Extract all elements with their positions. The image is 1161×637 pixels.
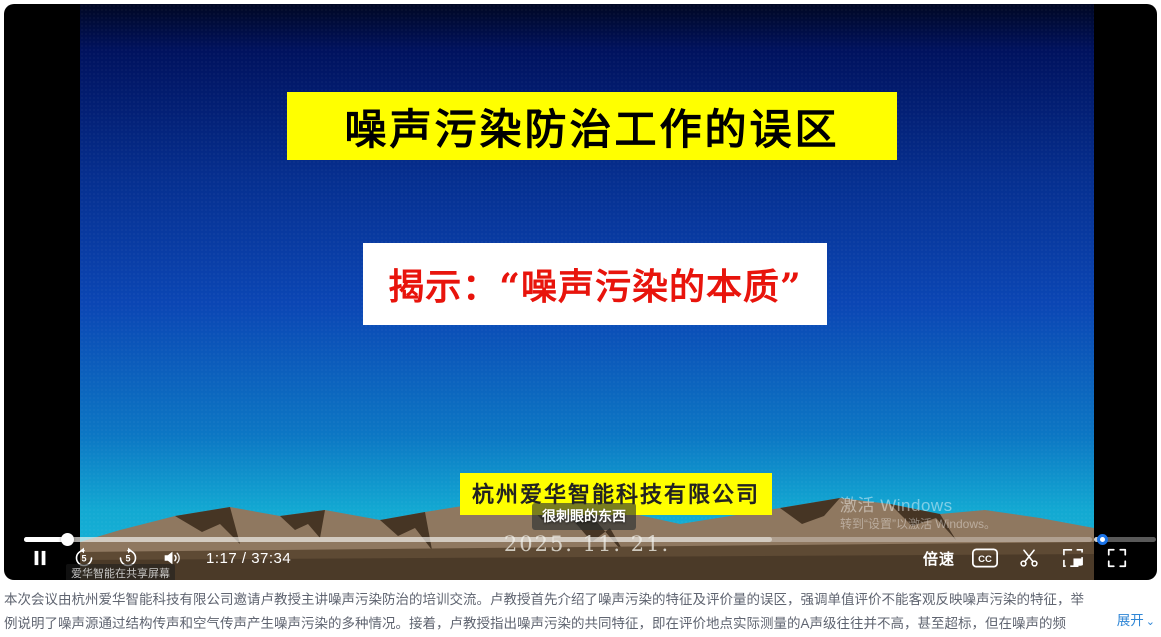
clip-button[interactable]: [1007, 536, 1051, 580]
video-description: 本次会议由杭州爱华智能科技有限公司邀请卢教授主讲噪声污染防治的培训交流。卢教授首…: [0, 588, 1161, 636]
play-pause-button[interactable]: [18, 536, 62, 580]
fullscreen-button[interactable]: [1095, 536, 1139, 580]
picture-in-picture-button[interactable]: [1051, 536, 1095, 580]
expand-description-label: 展开: [1117, 613, 1144, 628]
slide-subtitle: 揭示：“噪声污染的本质”: [388, 258, 801, 310]
svg-text:CC: CC: [978, 554, 992, 565]
video-description-text: 本次会议由杭州爱华智能科技有限公司邀请卢教授主讲噪声污染防治的培训交流。卢教授首…: [4, 588, 1155, 636]
rewind-5-button[interactable]: 5: [62, 536, 106, 580]
player-controls-right: 倍速 CC: [915, 536, 1157, 580]
playback-speed-label: 倍速: [923, 548, 955, 569]
player-controls-left: 5 5 1:17 / 37:34: [4, 536, 291, 580]
forward-5-icon: 5: [116, 546, 140, 570]
svg-text:5: 5: [125, 554, 130, 564]
slide-title: 噪声污染防治工作的误区: [344, 96, 839, 157]
expand-description-link[interactable]: 展开⌄: [1107, 609, 1155, 634]
volume-icon: [161, 547, 183, 569]
video-caption-text: 很刺眼的东西: [542, 508, 626, 524]
slide-subtitle-box: 揭示：“噪声污染的本质”: [363, 243, 827, 325]
video-caption: 很刺眼的东西: [532, 503, 636, 530]
scissors-icon: [1018, 547, 1040, 569]
playback-speed-button[interactable]: 倍速: [915, 536, 963, 580]
time-display: 1:17 / 37:34: [206, 550, 291, 567]
svg-text:5: 5: [81, 554, 86, 564]
video-player[interactable]: 噪声污染防治工作的误区 揭示：“噪声污染的本质” 杭州爱华智能科技有限公司 很刺…: [4, 4, 1157, 580]
closed-caption-icon: CC: [972, 548, 998, 568]
pause-icon: [30, 548, 50, 568]
video-frame[interactable]: 噪声污染防治工作的误区 揭示：“噪声污染的本质” 杭州爱华智能科技有限公司 很刺…: [80, 4, 1094, 580]
slide-title-box: 噪声污染防治工作的误区: [287, 92, 897, 160]
fullscreen-icon: [1106, 547, 1128, 569]
chevron-down-icon: ⌄: [1146, 616, 1155, 628]
volume-button[interactable]: [150, 536, 194, 580]
captions-button[interactable]: CC: [963, 536, 1007, 580]
picture-in-picture-icon: [1062, 548, 1084, 568]
forward-5-button[interactable]: 5: [106, 536, 150, 580]
player-control-bar[interactable]: 爱华智能在共享屏幕 5 5: [4, 536, 1157, 580]
replay-5-icon: 5: [72, 546, 96, 570]
